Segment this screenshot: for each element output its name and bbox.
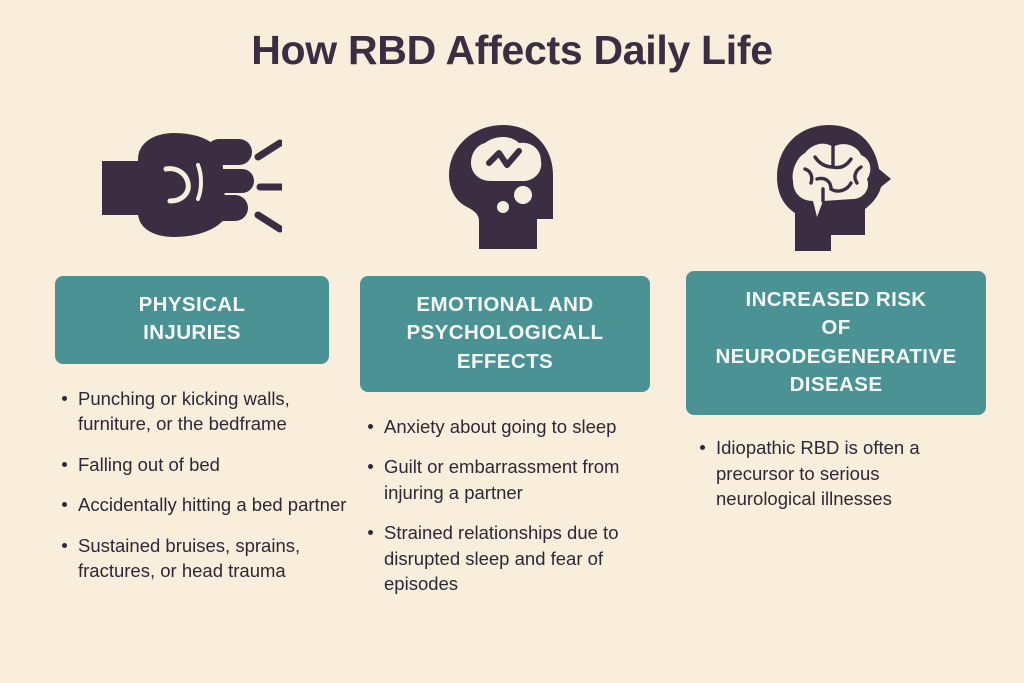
bullet-list-emotional-effects: Anxiety about going to sleep Guilt or em… bbox=[368, 414, 658, 597]
list-item: Anxiety about going to sleep bbox=[368, 414, 658, 440]
header-line: INJURIES bbox=[65, 319, 319, 347]
list-item: Guilt or embarrassment from injuring a p… bbox=[368, 454, 658, 505]
header-line: NEURODEGENERATIVE bbox=[690, 343, 982, 371]
header-line: EMOTIONAL AND bbox=[370, 291, 640, 319]
header-box-physical-injuries: PHYSICAL INJURIES bbox=[55, 276, 329, 364]
fist-punch-icon bbox=[42, 118, 342, 258]
list-item: Idiopathic RBD is often a precursor to s… bbox=[700, 435, 972, 512]
list-item: Falling out of bed bbox=[62, 452, 362, 478]
header-box-emotional-effects: EMOTIONAL AND PSYCHOLOGICALL EFFECTS bbox=[360, 276, 650, 392]
header-line: INCREASED RISK bbox=[690, 286, 982, 314]
list-item: Punching or kicking walls, furniture, or… bbox=[62, 386, 362, 437]
header-line: PHYSICAL bbox=[65, 291, 319, 319]
header-line: PSYCHOLOGICALL bbox=[370, 319, 640, 347]
list-item: Strained relationships due to disrupted … bbox=[368, 520, 658, 597]
header-line: DISEASE bbox=[690, 371, 982, 399]
columns-container: PHYSICAL INJURIES Punching or kicking wa… bbox=[0, 118, 1024, 678]
page-title: How RBD Affects Daily Life bbox=[0, 28, 1024, 73]
column-emotional-effects: EMOTIONAL AND PSYCHOLOGICALL EFFECTS Anx… bbox=[355, 118, 655, 597]
column-neurodegenerative-risk: INCREASED RISK OF NEURODEGENERATIVE DISE… bbox=[676, 118, 986, 512]
column-physical-injuries: PHYSICAL INJURIES Punching or kicking wa… bbox=[42, 118, 342, 584]
header-line: EFFECTS bbox=[370, 348, 640, 376]
header-line: OF bbox=[690, 314, 982, 342]
bullet-list-neurodegenerative-risk: Idiopathic RBD is often a precursor to s… bbox=[700, 435, 972, 512]
head-thought-bubble-icon bbox=[355, 118, 655, 258]
header-box-neurodegenerative-risk: INCREASED RISK OF NEURODEGENERATIVE DISE… bbox=[686, 271, 986, 415]
list-item: Accidentally hitting a bed partner bbox=[62, 492, 362, 518]
head-brain-icon bbox=[676, 118, 986, 258]
list-item: Sustained bruises, sprains, fractures, o… bbox=[62, 533, 362, 584]
bullet-list-physical-injuries: Punching or kicking walls, furniture, or… bbox=[62, 386, 362, 584]
